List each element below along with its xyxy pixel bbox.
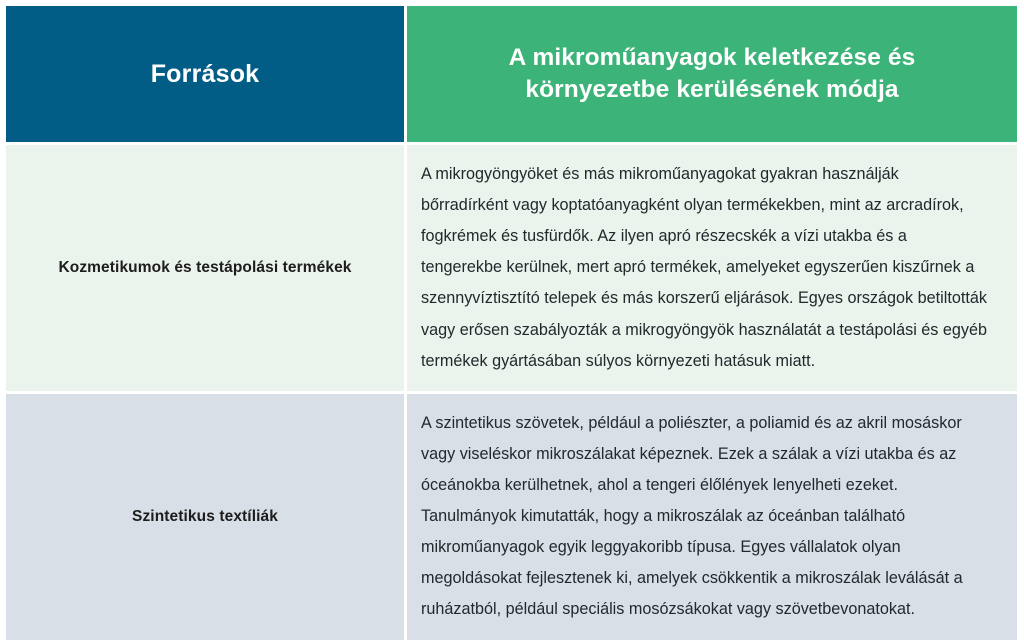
row-label-cosmetics: Kozmetikumok és testápolási termékek xyxy=(6,145,404,391)
paragraph-synthetic-textiles: A szintetikus szövetek, például a poliés… xyxy=(421,408,987,626)
table-row-cosmetics: Kozmetikumok és testápolási termékek A m… xyxy=(6,145,1017,391)
table-header: Források A mikroműanyagok keletkezése és… xyxy=(6,6,1017,142)
row-description-cosmetics: A mikrogyöngyöket és más mikroműanyagoka… xyxy=(407,145,1017,391)
paragraph-cosmetics: A mikrogyöngyöket és más mikroműanyagoka… xyxy=(421,159,987,377)
table-body: Kozmetikumok és testápolási termékek A m… xyxy=(6,145,1017,640)
table-header-row: Források A mikroműanyagok keletkezése és… xyxy=(6,6,1017,142)
microplastics-sources-table: Források A mikroműanyagok keletkezése és… xyxy=(3,3,1020,643)
row-description-synthetic-textiles: A szintetikus szövetek, például a poliés… xyxy=(407,394,1017,640)
row-label-synthetic-textiles: Szintetikus textíliák xyxy=(6,394,404,640)
microplastics-sources-table-container: Források A mikroműanyagok keletkezése és… xyxy=(0,0,1024,587)
column-header-mode-of-generation-and-release: A mikroműanyagok keletkezése és környeze… xyxy=(407,6,1017,142)
table-row-synthetic-textiles: Szintetikus textíliák A szintetikus szöv… xyxy=(6,394,1017,640)
column-header-sources: Források xyxy=(6,6,404,142)
